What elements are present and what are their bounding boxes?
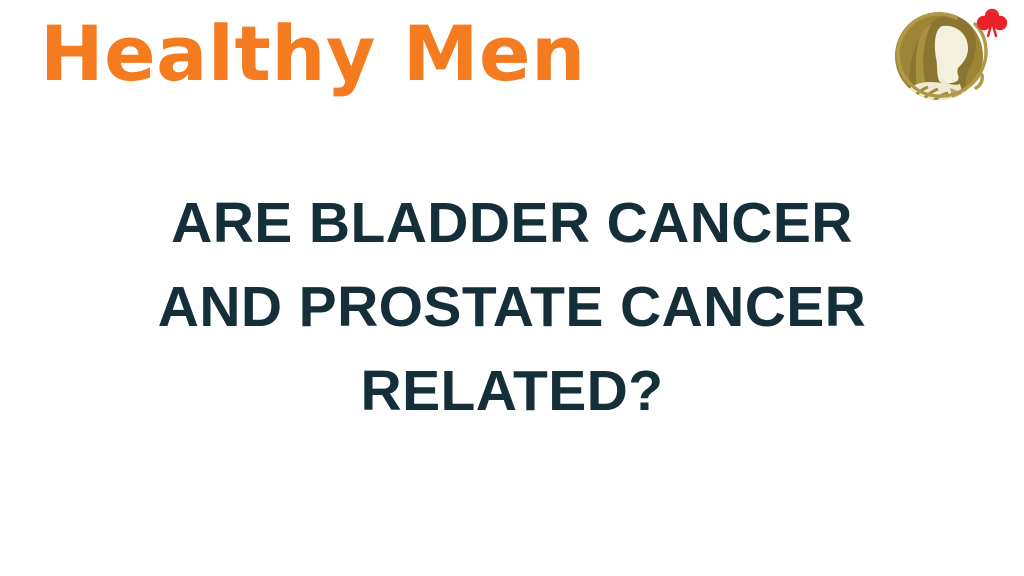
brand-emblem [880, 2, 1010, 106]
brand-wordmark: Healthy Men [40, 6, 586, 102]
headline-line-1: ARE BLADDER CANCER [60, 181, 964, 265]
headline-line-2: AND PROSTATE CANCER [60, 265, 964, 349]
slide-canvas: Healthy Men [0, 0, 1024, 576]
headline-block: ARE BLADDER CANCER AND PROSTATE CANCER R… [0, 181, 1024, 433]
headline-line-3: RELATED? [60, 349, 964, 433]
